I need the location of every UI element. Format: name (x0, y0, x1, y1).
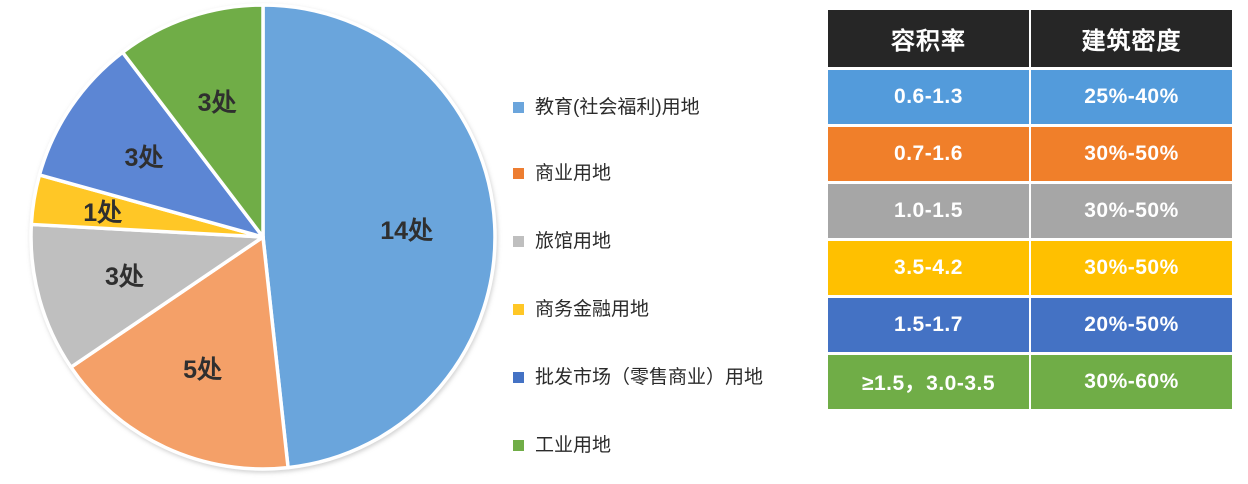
pie-value-label: 3处 (198, 83, 237, 119)
table-body: 0.6-1.325%-40%0.7-1.630%-50%1.0-1.530%-5… (828, 70, 1232, 409)
legend-item[interactable]: 批发市场（零售商业）用地 (508, 364, 763, 390)
legend-swatch-icon (513, 168, 524, 179)
legend-swatch-icon (513, 236, 524, 247)
legend-item[interactable]: 商业用地 (508, 160, 611, 186)
table-row: 3.5-4.230%-50% (828, 241, 1232, 295)
legend-swatch-icon (513, 440, 524, 451)
legend-item[interactable]: 工业用地 (508, 432, 611, 458)
legend-item-label: 工业用地 (535, 436, 611, 455)
table-header-density: 建筑密度 (1031, 10, 1232, 67)
table-head: 容积率 建筑密度 (828, 10, 1232, 67)
legend-item-label: 旅馆用地 (535, 232, 611, 251)
indicator-table: 容积率 建筑密度 0.6-1.325%-40%0.7-1.630%-50%1.0… (826, 7, 1234, 412)
table-cell-far: 3.5-4.2 (828, 241, 1029, 295)
legend-item-label: 商务金融用地 (535, 300, 649, 319)
pie-chart: 14处5处3处1处3处3处 (0, 0, 520, 484)
legend-item-label: 商业用地 (535, 164, 611, 183)
legend-swatch-icon (513, 372, 524, 383)
pie-value-label: 3处 (124, 138, 163, 174)
legend-item-label: 批发市场（零售商业）用地 (535, 368, 763, 387)
table-cell-density: 30%-60% (1031, 355, 1232, 409)
chart-legend: 教育(社会福利)用地商业用地旅馆用地商务金融用地批发市场（零售商业）用地工业用地 (508, 82, 818, 462)
table-cell-density: 30%-50% (1031, 127, 1232, 181)
table-header-far: 容积率 (828, 10, 1029, 67)
table-row: 1.5-1.720%-50% (828, 298, 1232, 352)
table-row: ≥1.5，3.0-3.530%-60% (828, 355, 1232, 409)
pie-value-label: 14处 (380, 211, 433, 247)
pie-value-label: 1处 (83, 193, 122, 229)
pie-value-label: 5处 (183, 350, 222, 386)
table-cell-density: 30%-50% (1031, 241, 1232, 295)
table-header-row: 容积率 建筑密度 (828, 10, 1232, 67)
table-cell-density: 30%-50% (1031, 184, 1232, 238)
table-cell-density: 20%-50% (1031, 298, 1232, 352)
table-cell-density: 25%-40% (1031, 70, 1232, 124)
legend-item[interactable]: 教育(社会福利)用地 (508, 94, 700, 120)
pie-slice (263, 5, 495, 468)
table-cell-far: ≥1.5，3.0-3.5 (828, 355, 1029, 409)
table-cell-far: 1.0-1.5 (828, 184, 1029, 238)
table-row: 1.0-1.530%-50% (828, 184, 1232, 238)
legend-swatch-icon (513, 102, 524, 113)
legend-item-label: 教育(社会福利)用地 (535, 98, 700, 117)
table-row: 0.6-1.325%-40% (828, 70, 1232, 124)
legend-swatch-icon (513, 304, 524, 315)
slide-root: 14处5处3处1处3处3处 教育(社会福利)用地商业用地旅馆用地商务金融用地批发… (0, 0, 1248, 484)
pie-value-label: 3处 (105, 257, 144, 293)
legend-item[interactable]: 旅馆用地 (508, 228, 611, 254)
pie-chart-svg (0, 0, 520, 484)
table-cell-far: 0.7-1.6 (828, 127, 1029, 181)
table-cell-far: 1.5-1.7 (828, 298, 1029, 352)
table-row: 0.7-1.630%-50% (828, 127, 1232, 181)
legend-item[interactable]: 商务金融用地 (508, 296, 649, 322)
table-cell-far: 0.6-1.3 (828, 70, 1029, 124)
